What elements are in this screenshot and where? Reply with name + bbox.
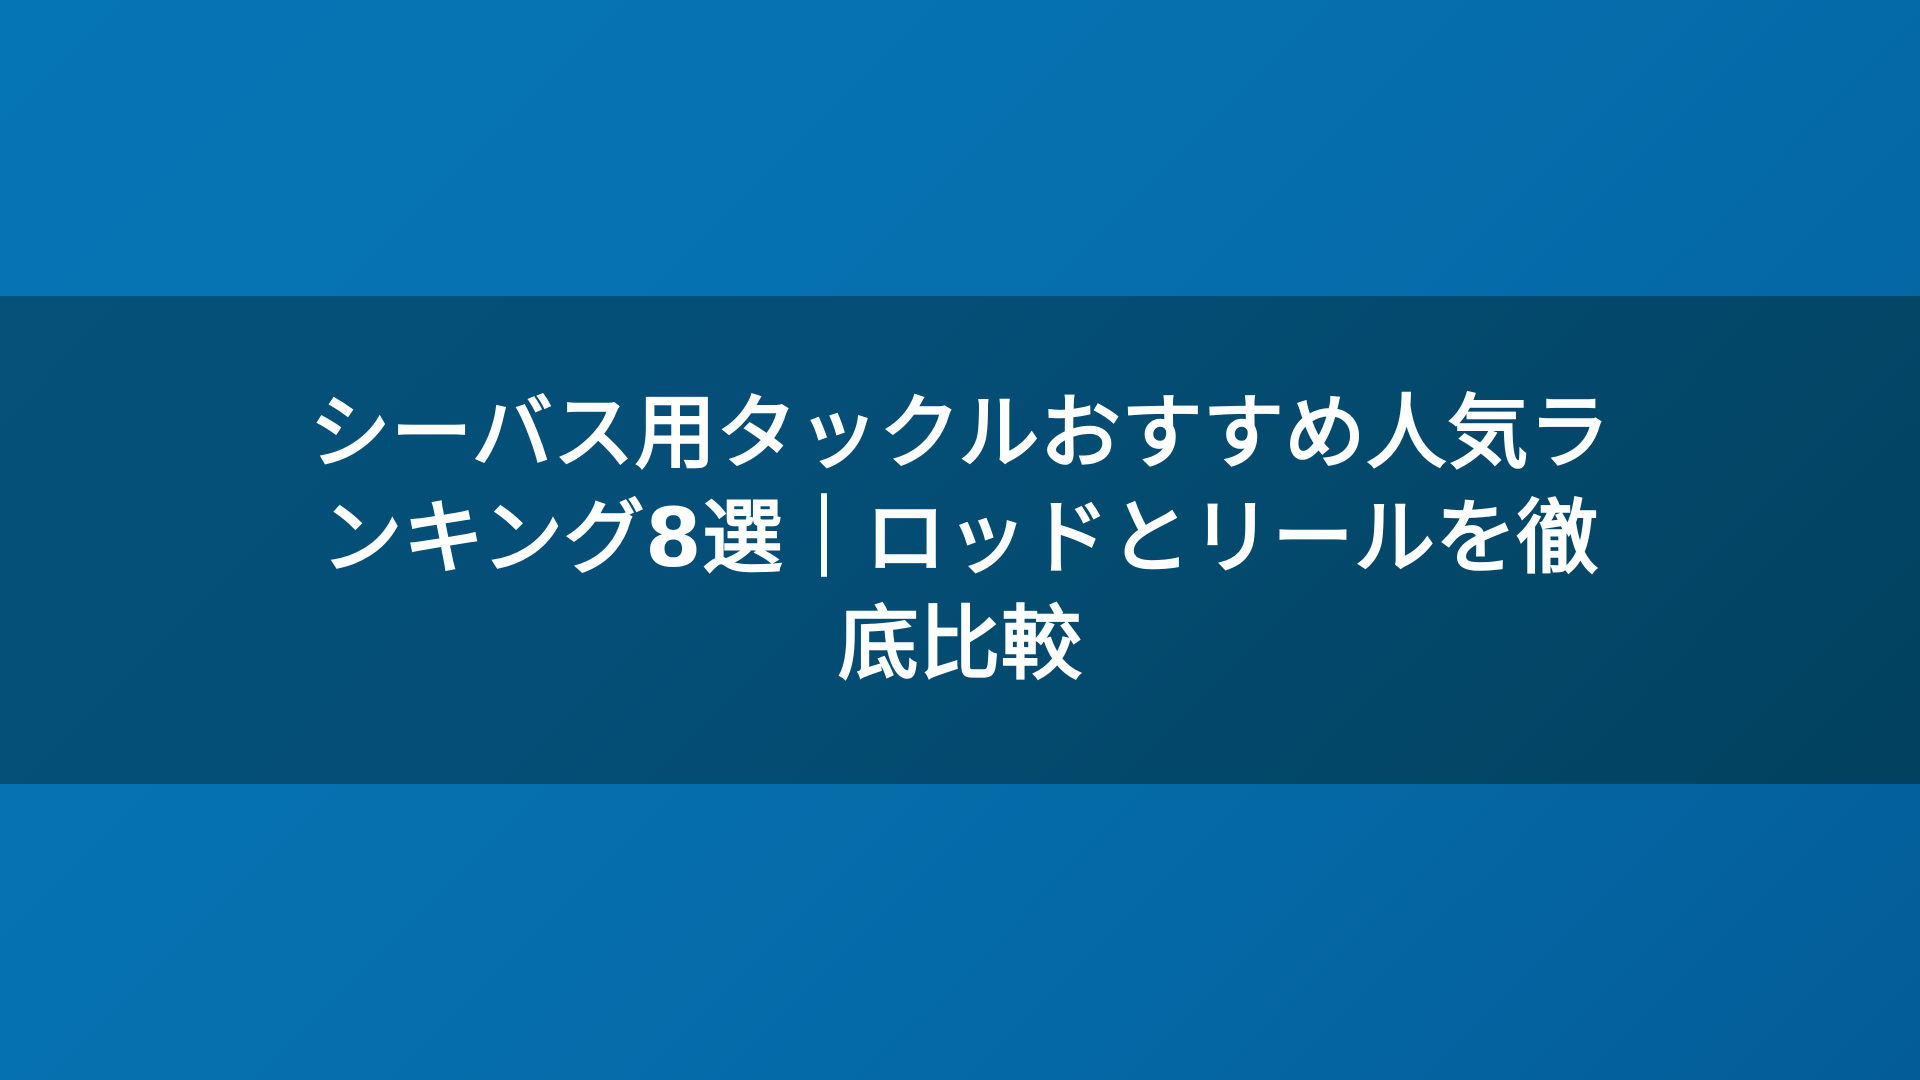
page-title: シーバス用タックルおすすめ人気ランキング8選｜ロッドとリールを徹底比較	[300, 382, 1620, 698]
title-band: シーバス用タックルおすすめ人気ランキング8選｜ロッドとリールを徹底比較	[0, 296, 1920, 784]
og-image-card: シーバス用タックルおすすめ人気ランキング8選｜ロッドとリールを徹底比較	[0, 0, 1920, 1080]
top-background-stripe	[0, 0, 1920, 296]
bottom-background-stripe	[0, 784, 1920, 1080]
